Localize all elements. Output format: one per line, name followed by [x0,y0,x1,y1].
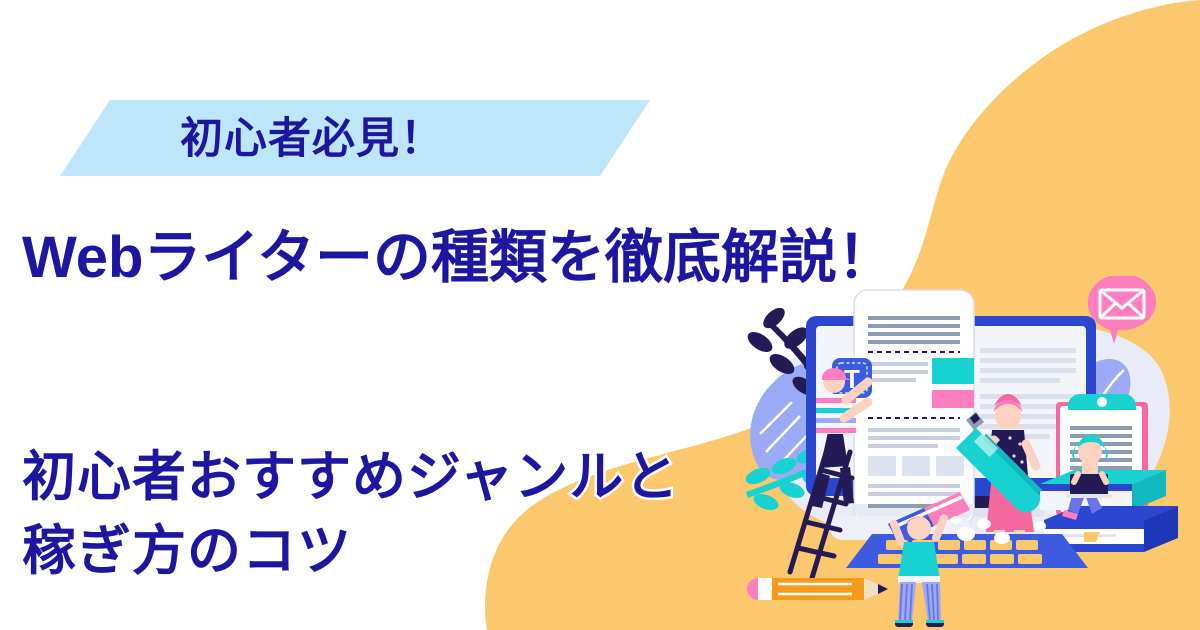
eyebrow-badge: 初心者必見！ [60,100,650,176]
poster-canvas: 初心者必見！ Webライターの種類を徹底解説！ 初心者おすすめジャンルと 稼ぎ方… [0,0,1200,630]
pencil [747,578,888,600]
subtitle-line-1: 初心者おすすめジャンルと [22,432,679,511]
badge-label: 初心者必見！ [180,104,444,174]
subtitle-line-2: 稼ぎ方のコツ [22,506,352,585]
content-writing-illustration: T [744,276,1200,630]
